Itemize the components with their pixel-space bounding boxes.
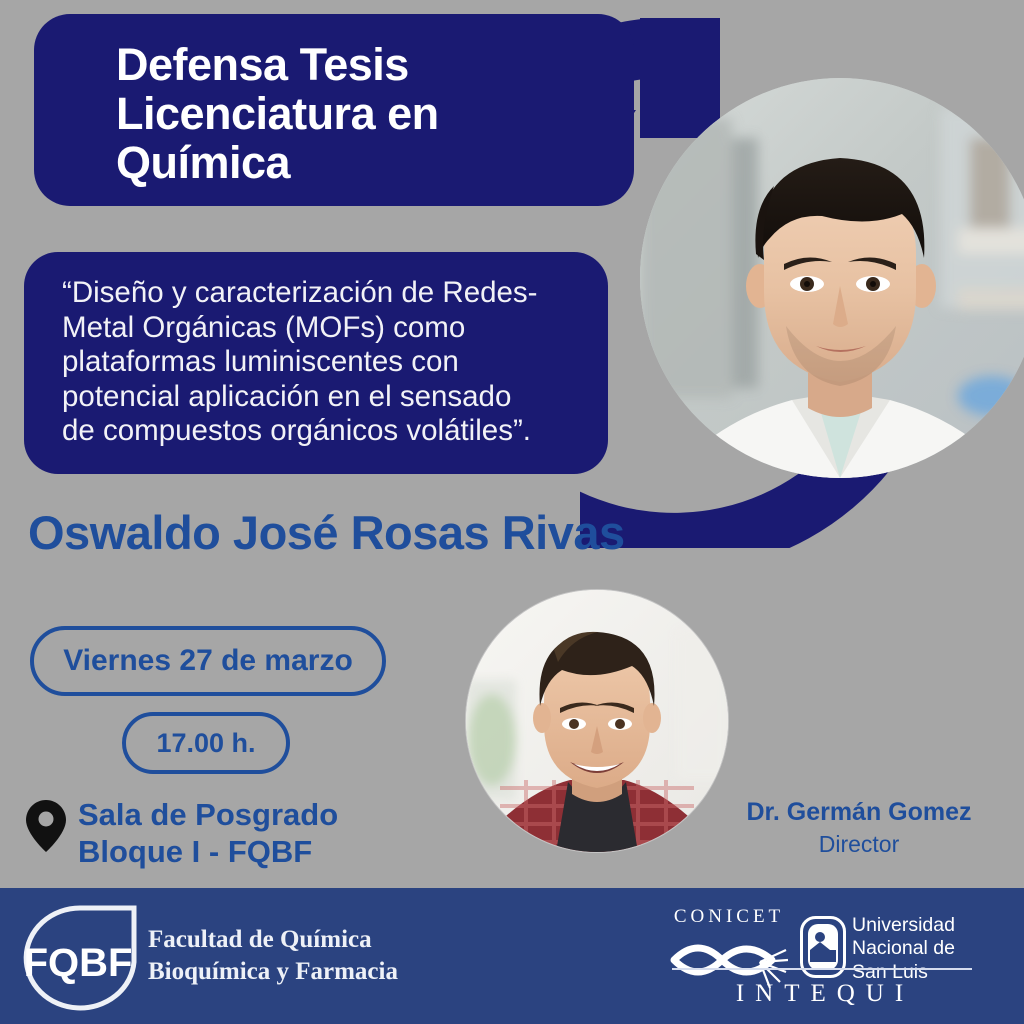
title-line-3: Química (116, 138, 616, 187)
fqbf-line-2: Bioquímica y Farmacia (148, 956, 398, 988)
unsl-name: Universidad Nacional de San Luis (852, 914, 955, 984)
presenter-name: Oswaldo José Rosas Rivas (28, 505, 748, 560)
thesis-title-bubble: “Diseño y caracterización de Redes- Meta… (24, 252, 608, 474)
title-bubble: Defensa Tesis Licenciatura en Química (34, 14, 634, 206)
student-photo-image (640, 78, 1024, 478)
title-line-1: Defensa Tesis (116, 40, 616, 89)
director-role: Director (700, 831, 1018, 858)
thesis-line-4: potencial aplicación en el sensado (62, 380, 592, 415)
event-venue: Sala de Posgrado Bloque I - FQBF (78, 796, 338, 870)
fqbf-acronym-text: FQBF (24, 941, 133, 985)
event-date-pill: Viernes 27 de marzo (30, 626, 386, 696)
thesis-line-2: Metal Orgánicas (MOFs) como (62, 311, 592, 346)
unsl-line-2: Nacional de (852, 937, 955, 960)
poster-canvas: Defensa Tesis Licenciatura en Química “D… (0, 0, 1024, 1024)
student-photo (640, 78, 1024, 478)
event-location: Sala de Posgrado Bloque I - FQBF (26, 796, 338, 870)
map-pin-icon (26, 800, 66, 852)
director-caption: Dr. Germán Gomez Director (700, 798, 1018, 858)
venue-line-1: Sala de Posgrado (78, 796, 338, 833)
footer-divider (672, 968, 972, 970)
unsl-line-1: Universidad (852, 914, 955, 937)
thesis-line-5: de compuestos orgánicos volátiles”. (62, 414, 592, 449)
event-time-label: 17.00 h. (156, 728, 255, 759)
director-name: Dr. Germán Gomez (700, 798, 1018, 827)
page-title: Defensa Tesis Licenciatura en Química (116, 40, 616, 187)
thesis-line-3: plataformas luminiscentes con (62, 345, 592, 380)
thesis-line-1: “Diseño y caracterización de Redes- (62, 276, 592, 311)
fqbf-line-1: Facultad de Química (148, 924, 398, 956)
event-time-pill: 17.00 h. (122, 712, 290, 774)
title-line-2: Licenciatura en (116, 89, 616, 138)
intequi-wordmark: INTEQUI (660, 980, 990, 1008)
event-date-label: Viernes 27 de marzo (63, 644, 353, 678)
fqbf-logo-icon: FQBF (22, 904, 142, 1012)
director-photo-image (466, 590, 728, 852)
director-photo (466, 590, 728, 852)
conicet-wordmark: CONICET (664, 906, 794, 928)
thesis-title-text: “Diseño y caracterización de Redes- Meta… (62, 276, 592, 449)
venue-line-2: Bloque I - FQBF (78, 833, 338, 870)
fqbf-name: Facultad de Química Bioquímica y Farmaci… (148, 924, 398, 988)
